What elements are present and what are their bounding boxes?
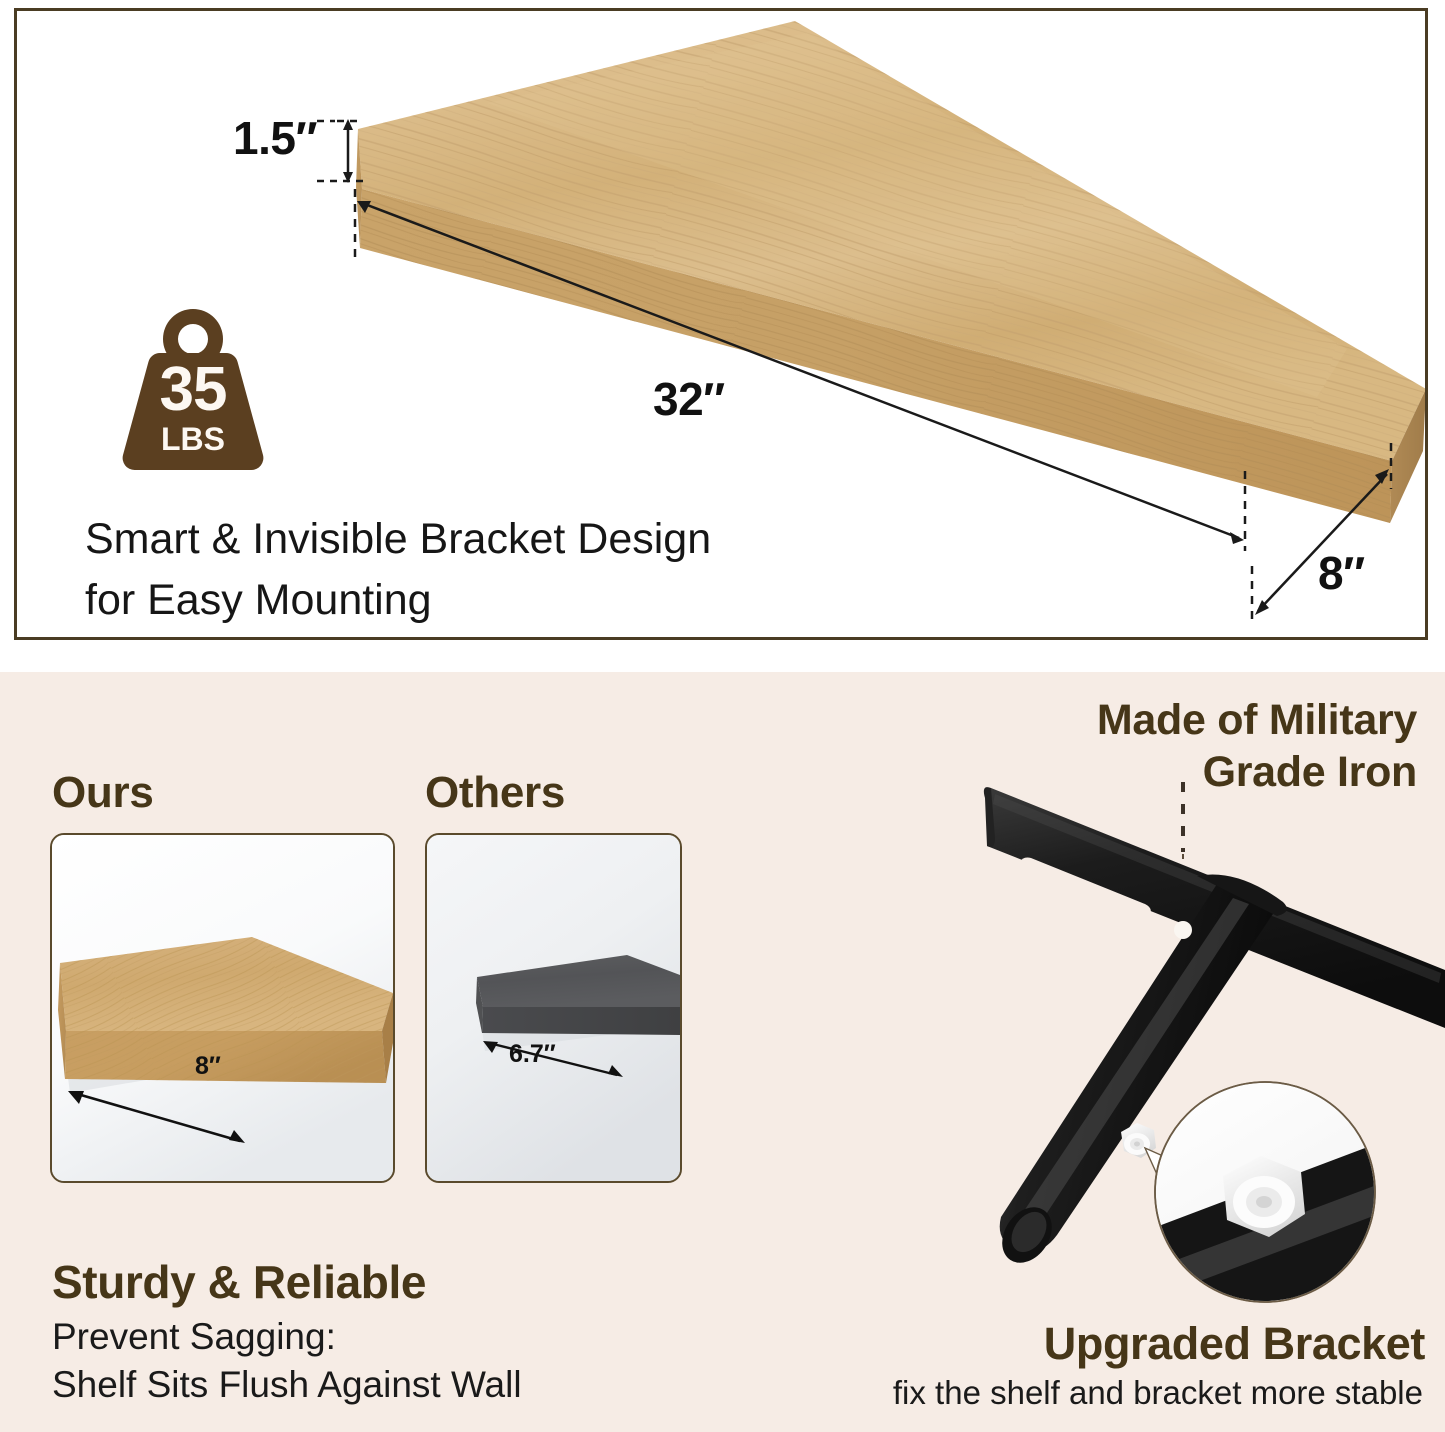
sturdy-line-2: Shelf Sits Flush Against Wall xyxy=(52,1364,522,1406)
sturdy-line-1: Prevent Sagging: xyxy=(52,1316,336,1358)
black-iron-bracket-illustration xyxy=(845,780,1445,1310)
depth-dimension-label: 8″ xyxy=(1318,546,1365,600)
ours-photo-box xyxy=(50,833,395,1183)
headline-line-2: for Easy Mounting xyxy=(85,570,905,631)
thickness-dimension-label: 1.5″ xyxy=(233,111,317,165)
bracket-mounting-hole xyxy=(1174,921,1192,939)
oak-shelf-photo xyxy=(52,835,393,1181)
weight-value: 35 xyxy=(113,359,273,421)
product-dimensions-panel: 1.5″ 32″ 8″ 35 LBS Smart & Invisible Bra… xyxy=(14,8,1428,640)
ours-dimension-label: 8″ xyxy=(195,1052,221,1081)
others-label: Others xyxy=(425,768,565,818)
military-iron-line-1: Made of Military xyxy=(777,694,1417,746)
length-dimension-label: 32″ xyxy=(653,372,725,426)
magnifier-callout xyxy=(1095,1080,1445,1310)
headline: Smart & Invisible Bracket Design for Eas… xyxy=(85,509,905,631)
upgraded-bracket-subtitle: fix the shelf and bracket more stable xyxy=(663,1374,1423,1412)
upgraded-bracket-heading: Upgraded Bracket xyxy=(725,1318,1425,1370)
weight-capacity-badge: 35 LBS xyxy=(113,305,273,477)
others-photo-box xyxy=(425,833,682,1183)
gray-shelf-photo xyxy=(427,835,680,1181)
sturdy-heading: Sturdy & Reliable xyxy=(52,1255,426,1309)
headline-line-1: Smart & Invisible Bracket Design xyxy=(85,509,905,570)
weight-unit: LBS xyxy=(113,423,273,455)
ours-label: Ours xyxy=(52,768,154,818)
others-dimension-label: 6.7″ xyxy=(509,1040,556,1069)
